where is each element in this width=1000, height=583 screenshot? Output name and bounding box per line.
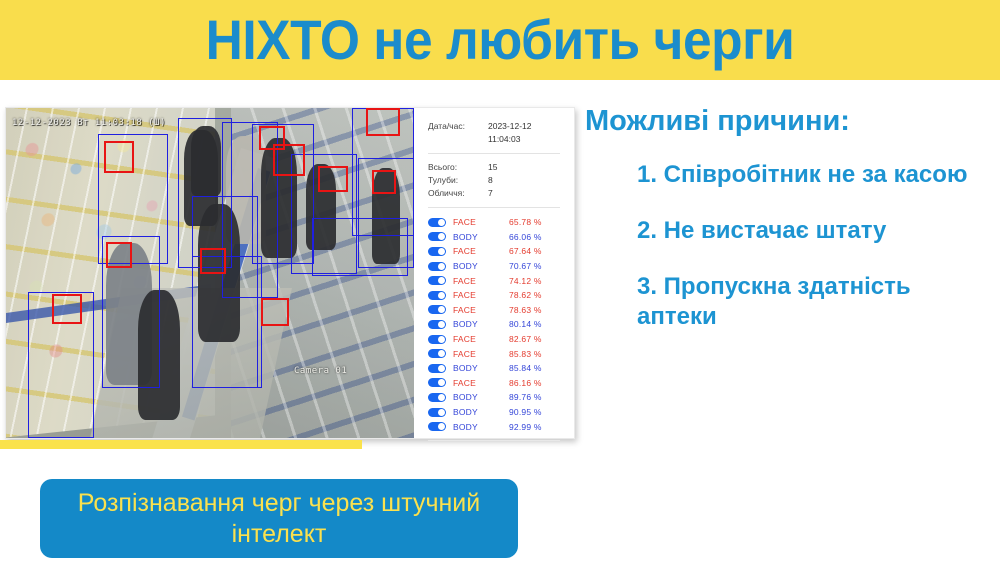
detection-confidence-score: 67.64 % xyxy=(509,246,542,256)
cctv-video-frame: 12-12-2023 Вт 11:03:18 (Ш) Camera 01 xyxy=(6,108,414,438)
detection-confidence-score: 90.95 % xyxy=(509,407,542,417)
meta-value-time: 11:04:03 xyxy=(488,133,520,146)
detections-list: FACE65.78 %BODY66.06 %FACE67.64 %BODY70.… xyxy=(428,215,560,434)
person-silhouette xyxy=(198,204,240,342)
ai-queue-recognition-button[interactable]: Розпізнавання черг через штучний інтелек… xyxy=(40,479,518,558)
detection-row: FACE78.62 % xyxy=(428,288,560,303)
meta-row-faces: Обличчя: 7 xyxy=(428,187,560,200)
person-silhouette xyxy=(372,168,400,264)
reason-item-1: 1. Співробітник не за касою xyxy=(585,160,993,190)
detection-confidence-score: 74.12 % xyxy=(509,276,542,286)
detection-type-label: BODY xyxy=(453,232,509,242)
reason-item-3: 3. Пропускна здатність аптеки xyxy=(585,272,993,332)
detection-type-label: BODY xyxy=(453,407,509,417)
detection-row: BODY70.67 % xyxy=(428,259,560,274)
detection-row: FACE67.64 % xyxy=(428,244,560,259)
detection-toggle[interactable] xyxy=(428,422,446,431)
detection-row: FACE65.78 % xyxy=(428,215,560,230)
detection-toggle[interactable] xyxy=(428,291,446,300)
detection-row: BODY90.95 % xyxy=(428,405,560,420)
detection-type-label: BODY xyxy=(453,261,509,271)
panel-divider xyxy=(428,440,560,441)
meta-value-faces: 7 xyxy=(488,187,493,200)
detection-toggle[interactable] xyxy=(428,247,446,256)
person-silhouette xyxy=(138,290,180,420)
detection-confidence-score: 66.06 % xyxy=(509,232,542,242)
meta-label-spacer xyxy=(428,133,488,146)
reason-item-2: 2. Не вистачає штату xyxy=(585,216,993,246)
detection-confidence-score: 82.67 % xyxy=(509,334,542,344)
meta-value-total: 15 xyxy=(488,161,497,174)
detection-toggle[interactable] xyxy=(428,218,446,227)
detection-toggle[interactable] xyxy=(428,408,446,417)
detection-type-label: FACE xyxy=(453,334,509,344)
detection-toggle[interactable] xyxy=(428,262,446,271)
detection-toggle[interactable] xyxy=(428,349,446,358)
detection-confidence-score: 85.83 % xyxy=(509,349,542,359)
detection-toggle[interactable] xyxy=(428,393,446,402)
reasons-column: Можливі причини: 1. Співробітник не за к… xyxy=(585,104,993,332)
header-banner: НІХТО не любить черги xyxy=(0,0,1000,80)
detection-confidence-score: 86.16 % xyxy=(509,378,542,388)
detection-confidence-score: 92.99 % xyxy=(509,422,542,432)
detection-screenshot-card: 12-12-2023 Вт 11:03:18 (Ш) Camera 01 Дат… xyxy=(5,107,575,439)
detection-toggle[interactable] xyxy=(428,378,446,387)
detection-toggle[interactable] xyxy=(428,232,446,241)
yellow-accent-strip xyxy=(0,440,362,449)
meta-label-datetime: Дата/час: xyxy=(428,120,488,133)
detection-confidence-score: 89.76 % xyxy=(509,392,542,402)
detection-confidence-score: 70.67 % xyxy=(509,261,542,271)
detection-confidence-score: 78.63 % xyxy=(509,305,542,315)
panel-divider xyxy=(428,153,560,154)
detection-toggle[interactable] xyxy=(428,305,446,314)
detection-type-label: FACE xyxy=(453,217,509,227)
meta-row-bodies: Тулуби: 8 xyxy=(428,174,560,187)
detection-row: BODY92.99 % xyxy=(428,419,560,434)
reasons-heading: Можливі причини: xyxy=(585,104,993,138)
detection-row: BODY85.84 % xyxy=(428,361,560,376)
person-silhouette xyxy=(261,138,297,258)
detections-panel: Дата/час: 2023-12-12 11:04:03 Всього: 15… xyxy=(414,108,574,438)
detection-confidence-score: 80.14 % xyxy=(509,319,542,329)
detection-row: BODY66.06 % xyxy=(428,230,560,245)
detection-toggle[interactable] xyxy=(428,276,446,285)
detection-type-label: FACE xyxy=(453,349,509,359)
detection-toggle[interactable] xyxy=(428,320,446,329)
detection-row: BODY89.76 % xyxy=(428,390,560,405)
meta-row-time: 11:04:03 xyxy=(428,133,560,146)
page-title: НІХТО не любить черги xyxy=(40,0,960,80)
detection-type-label: BODY xyxy=(453,392,509,402)
detection-type-label: FACE xyxy=(453,305,509,315)
meta-row-total: Всього: 15 xyxy=(428,161,560,174)
meta-label-bodies: Тулуби: xyxy=(428,174,488,187)
detection-type-label: BODY xyxy=(453,363,509,373)
detection-confidence-score: 78.62 % xyxy=(509,290,542,300)
detection-type-label: BODY xyxy=(453,422,509,432)
meta-row-datetime: Дата/час: 2023-12-12 xyxy=(428,120,560,133)
meta-value-bodies: 8 xyxy=(488,174,493,187)
detection-type-label: FACE xyxy=(453,276,509,286)
detection-confidence-score: 65.78 % xyxy=(509,217,542,227)
meta-label-total: Всього: xyxy=(428,161,488,174)
detection-type-label: FACE xyxy=(453,378,509,388)
detection-row: BODY80.14 % xyxy=(428,317,560,332)
detection-type-label: BODY xyxy=(453,319,509,329)
detection-toggle[interactable] xyxy=(428,335,446,344)
video-timestamp-overlay: 12-12-2023 Вт 11:03:18 (Ш) xyxy=(12,118,166,128)
detection-row: FACE78.63 % xyxy=(428,303,560,318)
meta-value-date: 2023-12-12 xyxy=(488,120,531,133)
detection-row: FACE86.16 % xyxy=(428,376,560,391)
camera-label-overlay: Camera 01 xyxy=(294,366,347,376)
detection-row: FACE85.83 % xyxy=(428,346,560,361)
detection-type-label: FACE xyxy=(453,246,509,256)
meta-label-faces: Обличчя: xyxy=(428,187,488,200)
detection-row: FACE74.12 % xyxy=(428,273,560,288)
person-silhouette xyxy=(306,164,336,250)
panel-divider xyxy=(428,207,560,208)
detection-confidence-score: 85.84 % xyxy=(509,363,542,373)
detection-type-label: FACE xyxy=(453,290,509,300)
detection-toggle[interactable] xyxy=(428,364,446,373)
detection-row: FACE82.67 % xyxy=(428,332,560,347)
person-silhouette xyxy=(191,126,221,196)
